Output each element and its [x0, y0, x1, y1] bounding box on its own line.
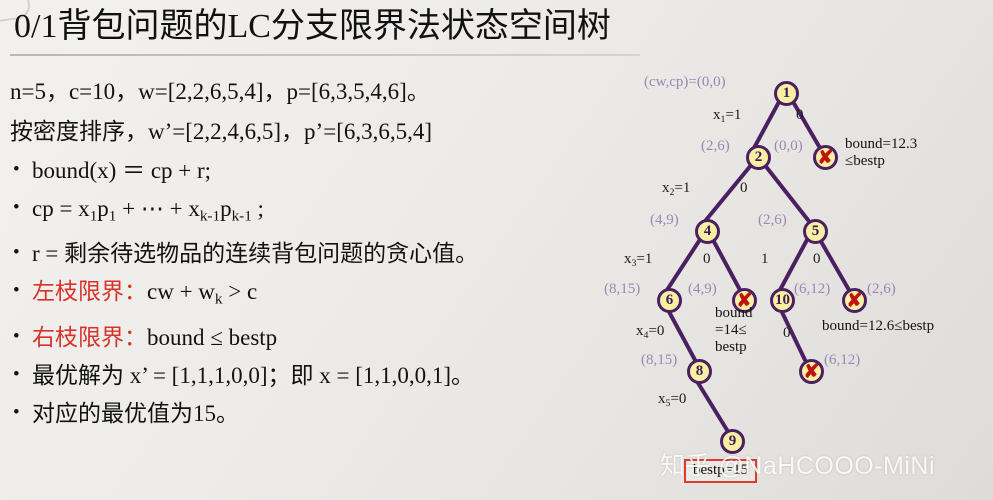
content-column: n=5，c=10，w=[2,2,6,5,4]，p=[6,3,5,4,6]。 按密…: [10, 72, 610, 433]
node-state-label-p-n3: (0,0): [774, 138, 803, 155]
bound-note-note-n7: bound=14≤bestp: [715, 305, 775, 356]
tree-node-n9: 9: [720, 429, 745, 454]
tree-node-n1: 1: [774, 81, 799, 106]
edge-label-e-x3-0: 0: [703, 251, 711, 268]
bullet-right-branch-bound: 右枝限界：bound ≤ bestp: [10, 319, 610, 357]
tree-node-n4: 4: [695, 219, 720, 244]
bullet-cp-definition: cp = x1p1 + ⋯ + xk-1pk-1 ;: [10, 190, 610, 235]
bound-note-note-n11: bound=12.6≤bestp: [822, 318, 993, 335]
node-state-label-p-n2: (2,6): [701, 138, 730, 155]
tree-node-n3: ✘: [813, 145, 838, 170]
paragraph-density-sort: 按密度排序，w’=[2,2,4,6,5]，p’=[6,3,6,5,4]: [10, 112, 610, 152]
tree-node-n11: ✘: [842, 288, 867, 313]
bullet-bound-definition: bound(x) ＝ cp + r;: [10, 152, 610, 190]
bound-note-note-n3: bound=12.3≤bestp: [845, 136, 965, 170]
tree-edges: [600, 60, 993, 500]
edge-label-e-x4-0: 0: [813, 251, 821, 268]
slide-canvas: 0/1背包问题的LC分支限界法状态空间树 n=5，c=10，w=[2,2,6,5…: [0, 0, 993, 500]
tree-node-n2: 2: [746, 145, 771, 170]
tree-node-n8: 8: [687, 359, 712, 384]
bullet-text: bound(x) ＝ cp + r;: [32, 158, 211, 183]
left-branch-formula: cw + wk > c: [147, 279, 257, 304]
bullet-r-definition: r = 剩余待选物品的连续背包问题的贪心值。: [10, 235, 610, 273]
node-state-label-p-n8: (8,15): [641, 352, 677, 369]
bullet-text: 最优解为 x’ = [1,1,1,0,0]；即 x = [1,1,0,0,1]。: [32, 363, 474, 388]
bullet-text: cp = x1p1 + ⋯ + xk-1pk-1 ;: [32, 196, 264, 221]
state-space-tree: 12✘456✘10✘8✘9(cw,cp)=(0,0)(2,6)(0,0)(4,9…: [600, 60, 993, 500]
edge-label-e-x2-1: x2=1: [662, 180, 690, 198]
pruned-x-icon: ✘: [818, 148, 834, 167]
node-state-label-p-n5: (2,6): [758, 212, 787, 229]
bullet-optimal-value: 对应的最优值为15。: [10, 395, 610, 433]
tree-node-n12: ✘: [799, 359, 824, 384]
edge-label-e-x4-l: x4=0: [636, 323, 664, 341]
tree-node-n6: 6: [657, 288, 682, 313]
edge-label-e-x1-0: 0: [796, 107, 804, 124]
pruned-x-icon: ✘: [847, 291, 863, 310]
bullet-text: r = 剩余待选物品的连续背包问题的贪心值。: [32, 241, 478, 266]
paragraph-parameters: n=5，c=10，w=[2,2,6,5,4]，p=[6,3,5,4,6]。: [10, 72, 610, 112]
left-branch-label: 左枝限界：: [32, 279, 147, 304]
edge-label-e-x4-1: 1: [761, 251, 769, 268]
node-state-label-p-n10: (6,12): [794, 281, 830, 298]
bullet-left-branch-bound: 左枝限界：cw + wk > c: [10, 273, 610, 318]
node-state-label-p-n11: (2,6): [867, 281, 896, 298]
bullet-optimal-solution: 最优解为 x’ = [1,1,1,0,0]；即 x = [1,1,0,0,1]。: [10, 357, 610, 395]
right-branch-label: 右枝限界：: [32, 325, 147, 350]
edge-label-e-x2-0: 0: [740, 180, 748, 197]
edge-label-e-x3-1: x3=1: [624, 251, 652, 269]
title-divider: [10, 54, 640, 56]
bestp-highlight-box: bestp=15: [684, 459, 757, 483]
page-title: 0/1背包问题的LC分支限界法状态空间树: [14, 2, 654, 54]
node-state-label-p-root: (cw,cp)=(0,0): [644, 74, 726, 91]
edge-label-e-x5-l: x5=0: [658, 391, 686, 409]
pruned-x-icon: ✘: [804, 362, 820, 381]
node-state-label-p-n12: (6,12): [824, 352, 860, 369]
node-state-label-p-n6: (8,15): [604, 281, 640, 298]
edge-label-e-x1-1: x1=1: [713, 107, 741, 125]
edge-label-e-n10-0: 0: [783, 325, 791, 342]
bullet-text: 对应的最优值为15。: [32, 401, 239, 426]
tree-node-n5: 5: [803, 219, 828, 244]
node-state-label-p-n7: (4,9): [688, 281, 717, 298]
right-branch-formula: bound ≤ bestp: [147, 325, 277, 350]
edge-8-9: [695, 378, 727, 430]
node-state-label-p-n4: (4,9): [650, 212, 679, 229]
